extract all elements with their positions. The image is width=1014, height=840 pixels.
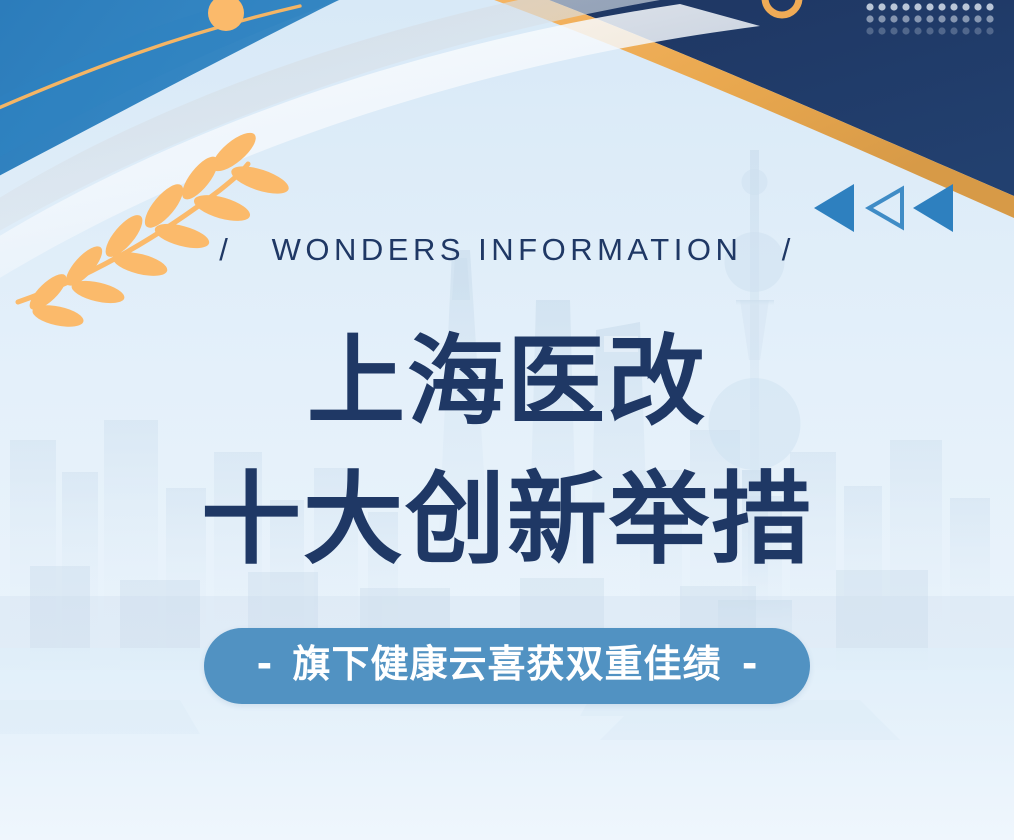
subtitle-pill-wrapper: - 旗下健康云喜获双重佳绩 - [0, 628, 1014, 704]
subtitle-text: 旗下健康云喜获双重佳绩 [292, 642, 721, 686]
headline-line-1: 上海医改 [0, 333, 1014, 431]
eyebrow-slash-right: / [782, 232, 795, 267]
eyebrow-text: WONDERS INFORMATION [272, 232, 743, 267]
headline-line-2: 十大创新举措 [0, 470, 1014, 570]
poster-text-content: / WONDERS INFORMATION / 上海医改 十大创新举措 - 旗下… [0, 0, 1014, 840]
poster-canvas: / WONDERS INFORMATION / 上海医改 十大创新举措 - 旗下… [0, 0, 1014, 840]
eyebrow-line: / WONDERS INFORMATION / [0, 232, 1014, 268]
eyebrow-slash-left: / [219, 232, 232, 267]
subtitle-dash-left: - [250, 642, 278, 686]
subtitle-pill[interactable]: - 旗下健康云喜获双重佳绩 - [204, 628, 809, 704]
subtitle-dash-right: - [736, 642, 764, 686]
